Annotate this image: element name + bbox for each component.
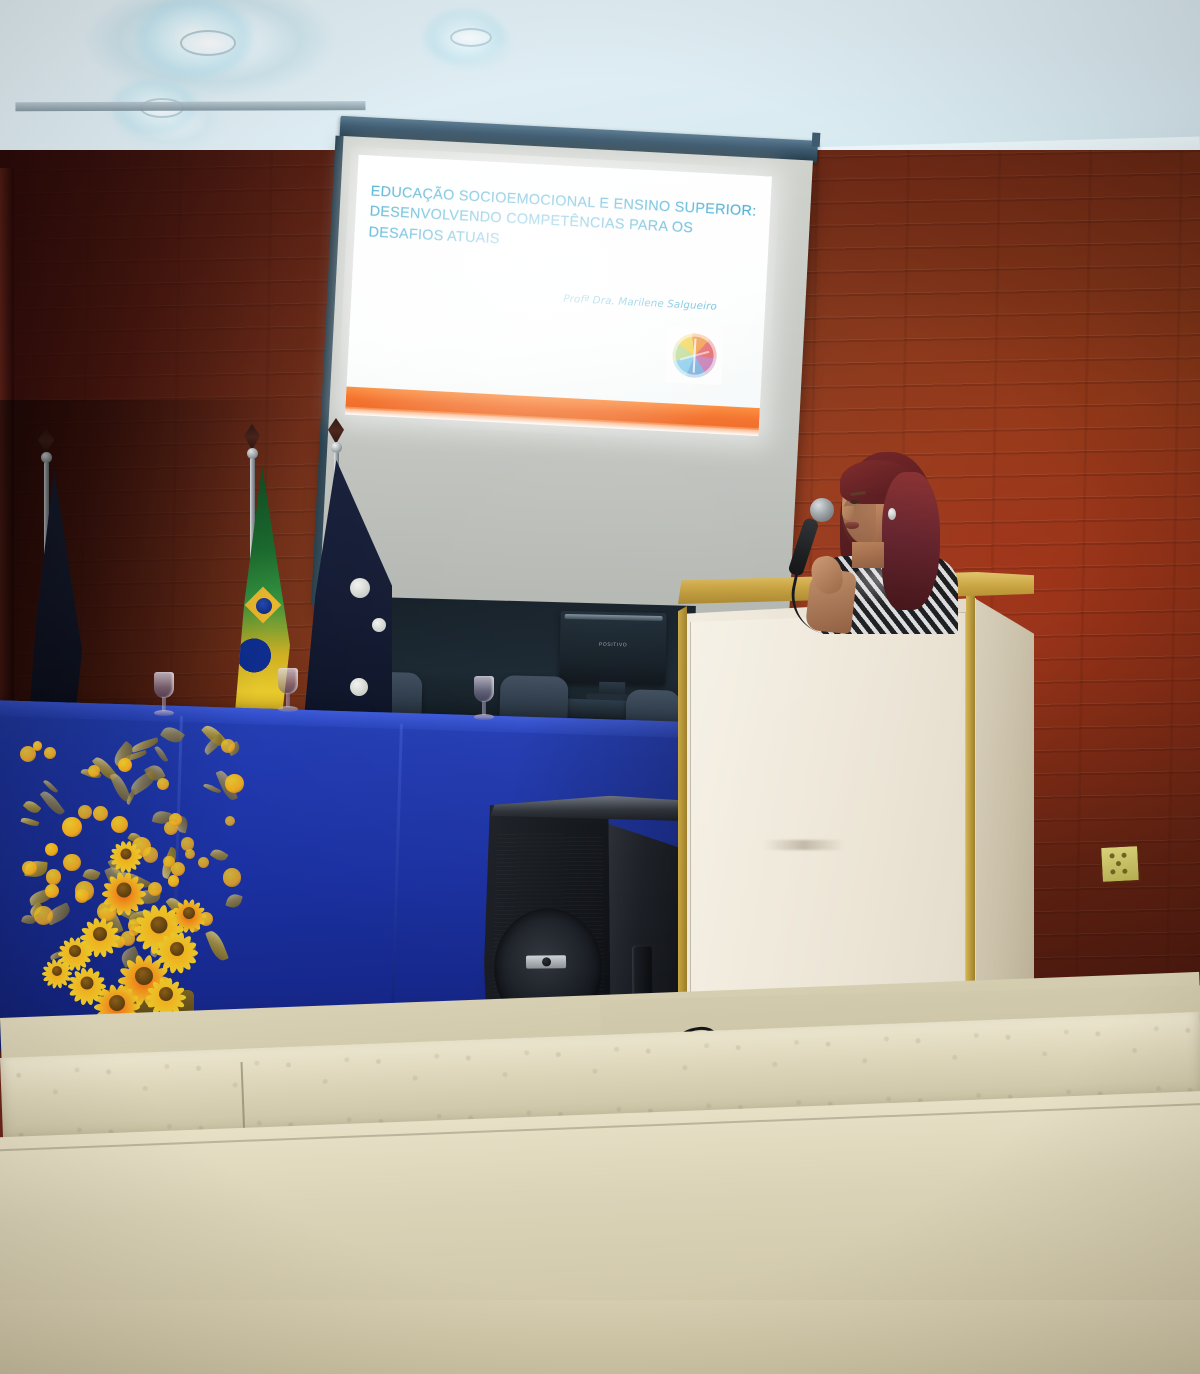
sunflower bbox=[156, 928, 198, 970]
projection-screen: EDUCAÇÃO SOCIOEMOCIONAL E ENSINO SUPERIO… bbox=[318, 128, 813, 642]
flower-bud bbox=[62, 817, 82, 837]
flower-bud bbox=[223, 868, 242, 887]
flower-leaf bbox=[40, 788, 65, 817]
flower-bud bbox=[78, 805, 92, 819]
hair-side bbox=[882, 472, 940, 610]
auditorium-photo: EDUCAÇÃO SOCIOEMOCIONAL E ENSINO SUPERIO… bbox=[0, 0, 1200, 1374]
flag-white-circle bbox=[372, 618, 386, 632]
flower-arrangement bbox=[6, 718, 272, 1038]
screen-mount-rail bbox=[15, 101, 365, 111]
neck bbox=[852, 542, 884, 568]
sunflower bbox=[146, 974, 186, 1014]
podium-surface-mark bbox=[764, 840, 844, 850]
flower-leaf bbox=[160, 724, 185, 747]
sunflower bbox=[42, 956, 72, 986]
flag-white-circle bbox=[350, 678, 368, 696]
drinking-glass[interactable] bbox=[276, 668, 300, 716]
speaker-brand-badge bbox=[526, 955, 566, 968]
flower-bud bbox=[225, 816, 235, 826]
sunflower bbox=[172, 896, 206, 930]
drinking-glass[interactable] bbox=[152, 672, 176, 720]
flower-bud bbox=[22, 861, 36, 875]
flower-leaf bbox=[82, 867, 100, 883]
monitor-brand-label: POSITIVO bbox=[599, 642, 628, 649]
flag-white-circle bbox=[350, 578, 370, 598]
flower-leaf bbox=[20, 816, 39, 827]
sunflower bbox=[110, 838, 142, 870]
flower-bud bbox=[45, 884, 59, 898]
projected-slide: EDUCAÇÃO SOCIOEMOCIONAL E ENSINO SUPERIO… bbox=[345, 155, 772, 436]
flower-leaf bbox=[205, 929, 229, 963]
sunflower bbox=[102, 868, 146, 912]
screen-hook bbox=[812, 133, 821, 147]
flower-leaf bbox=[153, 744, 168, 763]
flower-bud bbox=[118, 758, 132, 772]
flag-brazil-globe bbox=[256, 598, 272, 614]
flower-bud bbox=[45, 843, 58, 856]
flower-bud bbox=[75, 889, 89, 903]
flower-bud bbox=[157, 778, 169, 790]
nose bbox=[842, 506, 854, 520]
presenter bbox=[790, 438, 980, 628]
flower-bud bbox=[44, 747, 56, 759]
flower-bud bbox=[185, 849, 195, 859]
flower-leaf bbox=[23, 798, 42, 816]
flower-bud bbox=[33, 741, 43, 751]
earring bbox=[888, 508, 896, 520]
screen-surface: EDUCAÇÃO SOCIOEMOCIONAL E ENSINO SUPERIO… bbox=[319, 136, 813, 638]
flower-leaf bbox=[225, 892, 243, 910]
flower-bud bbox=[34, 906, 52, 924]
institutional-circular-logo-icon bbox=[665, 326, 724, 385]
flower-leaf bbox=[202, 781, 221, 795]
flower-bud bbox=[63, 854, 81, 872]
monitor-bezel bbox=[565, 614, 663, 621]
flower-bud bbox=[198, 857, 209, 868]
microphone-head-icon[interactable] bbox=[810, 498, 834, 522]
wall-power-outlet[interactable] bbox=[1099, 844, 1141, 884]
flower-bud bbox=[225, 774, 244, 793]
flower-bud bbox=[46, 869, 62, 885]
flower-bud bbox=[168, 875, 179, 886]
flower-bud bbox=[143, 847, 159, 863]
flower-bud bbox=[148, 882, 162, 896]
flower-bud bbox=[111, 816, 128, 833]
eye bbox=[850, 500, 859, 504]
slide-author: Profª Dra. Marilene Salgueiro bbox=[563, 294, 717, 313]
foreground-floor bbox=[0, 1300, 1200, 1374]
mouth bbox=[845, 522, 859, 529]
computer-monitor: POSITIVO bbox=[559, 611, 666, 685]
drinking-glass[interactable] bbox=[472, 676, 496, 724]
slide-title: EDUCAÇÃO SOCIOEMOCIONAL E ENSINO SUPERIO… bbox=[368, 181, 763, 263]
flower-leaf bbox=[210, 846, 229, 863]
flower-bud bbox=[93, 806, 108, 821]
flower-bud bbox=[163, 856, 174, 867]
flower-bud bbox=[121, 931, 136, 946]
chair[interactable] bbox=[499, 675, 568, 721]
